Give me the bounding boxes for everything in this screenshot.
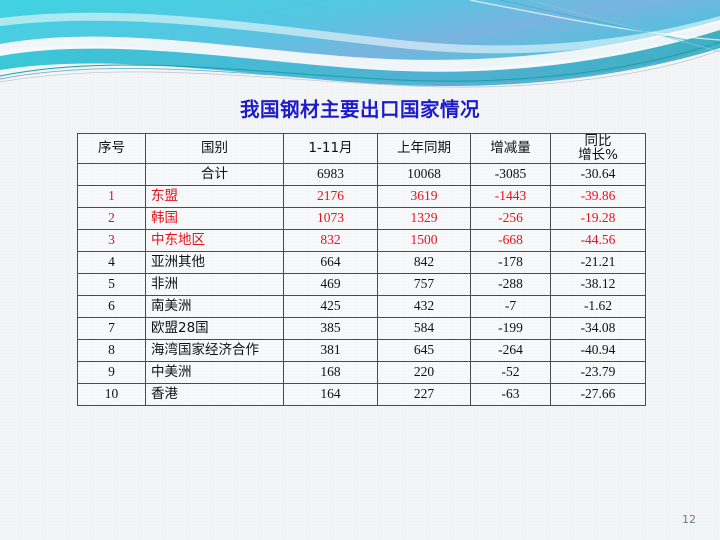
cell-change-amount: -63 <box>471 383 551 405</box>
cell-yoy-percent: -34.08 <box>551 317 646 339</box>
cell-index: 1 <box>78 185 146 207</box>
table-row: 6南美洲425432-7-1.62 <box>78 295 646 317</box>
cell-country: 亚洲其他 <box>146 251 284 273</box>
cell-current: 385 <box>284 317 378 339</box>
cell-change-amount: -264 <box>471 339 551 361</box>
cell-current: 2176 <box>284 185 378 207</box>
cell-index: 3 <box>78 229 146 251</box>
cell-current: 168 <box>284 361 378 383</box>
table-row: 1东盟21763619-1443-39.86 <box>78 185 646 207</box>
header-ribbon-decoration <box>0 0 720 92</box>
cell-change-amount: -3085 <box>471 163 551 185</box>
table-body: 合计698310068-3085-30.641东盟21763619-1443-3… <box>78 163 646 405</box>
cell-country: 中美洲 <box>146 361 284 383</box>
column-header-country: 国别 <box>146 134 284 164</box>
cell-prior-year: 227 <box>378 383 471 405</box>
cell-change-amount: -256 <box>471 207 551 229</box>
cell-index: 10 <box>78 383 146 405</box>
slide-canvas: 我国钢材主要出口国家情况 序号 国别 1-11月 <box>0 0 720 540</box>
column-header-yoy-growth: 同比 增长% <box>551 134 646 164</box>
table-row: 8海湾国家经济合作381645-264-40.94 <box>78 339 646 361</box>
cell-current: 1073 <box>284 207 378 229</box>
cell-country: 韩国 <box>146 207 284 229</box>
table-row: 3中东地区8321500-668-44.56 <box>78 229 646 251</box>
column-header-index: 序号 <box>78 134 146 164</box>
cell-index <box>78 163 146 185</box>
cell-yoy-percent: -23.79 <box>551 361 646 383</box>
cell-current: 425 <box>284 295 378 317</box>
cell-change-amount: -199 <box>471 317 551 339</box>
cell-country: 中东地区 <box>146 229 284 251</box>
cell-index: 8 <box>78 339 146 361</box>
cell-prior-year: 1329 <box>378 207 471 229</box>
table-row: 7欧盟28国385584-199-34.08 <box>78 317 646 339</box>
cell-prior-year: 584 <box>378 317 471 339</box>
cell-country: 东盟 <box>146 185 284 207</box>
cell-current: 664 <box>284 251 378 273</box>
cell-yoy-percent: -30.64 <box>551 163 646 185</box>
cell-index: 9 <box>78 361 146 383</box>
cell-country: 合计 <box>146 163 284 185</box>
cell-index: 4 <box>78 251 146 273</box>
table-row: 合计698310068-3085-30.64 <box>78 163 646 185</box>
cell-country: 海湾国家经济合作 <box>146 339 284 361</box>
cell-country: 非洲 <box>146 273 284 295</box>
cell-country: 香港 <box>146 383 284 405</box>
cell-yoy-percent: -44.56 <box>551 229 646 251</box>
cell-country: 欧盟28国 <box>146 317 284 339</box>
cell-change-amount: -1443 <box>471 185 551 207</box>
table-row: 10香港164227-63-27.66 <box>78 383 646 405</box>
cell-prior-year: 220 <box>378 361 471 383</box>
page-title: 我国钢材主要出口国家情况 <box>0 93 720 122</box>
cell-prior-year: 1500 <box>378 229 471 251</box>
cell-change-amount: -178 <box>471 251 551 273</box>
cell-current: 6983 <box>284 163 378 185</box>
cell-yoy-percent: -1.62 <box>551 295 646 317</box>
cell-prior-year: 645 <box>378 339 471 361</box>
table-header: 序号 国别 1-11月 上年同期 增减量 同比 <box>78 134 646 164</box>
cell-change-amount: -52 <box>471 361 551 383</box>
cell-yoy-percent: -39.86 <box>551 185 646 207</box>
cell-current: 469 <box>284 273 378 295</box>
cell-country: 南美洲 <box>146 295 284 317</box>
column-header-jan-nov: 1-11月 <box>284 134 378 164</box>
table-row: 5非洲469757-288-38.12 <box>78 273 646 295</box>
cell-index: 7 <box>78 317 146 339</box>
table-header-row: 序号 国别 1-11月 上年同期 增减量 同比 <box>78 134 646 164</box>
steel-export-table: 序号 国别 1-11月 上年同期 增减量 同比 <box>77 133 646 406</box>
ribbon-svg <box>0 0 720 92</box>
table-row: 4亚洲其他664842-178-21.21 <box>78 251 646 273</box>
page-number: 12 <box>682 513 696 526</box>
table-row: 9中美洲168220-52-23.79 <box>78 361 646 383</box>
column-header-change-amount: 增减量 <box>471 134 551 164</box>
cell-change-amount: -7 <box>471 295 551 317</box>
cell-index: 2 <box>78 207 146 229</box>
cell-yoy-percent: -38.12 <box>551 273 646 295</box>
column-header-prior-year: 上年同期 <box>378 134 471 164</box>
cell-prior-year: 432 <box>378 295 471 317</box>
cell-current: 832 <box>284 229 378 251</box>
cell-prior-year: 10068 <box>378 163 471 185</box>
cell-change-amount: -288 <box>471 273 551 295</box>
table-row: 2韩国10731329-256-19.28 <box>78 207 646 229</box>
cell-yoy-percent: -40.94 <box>551 339 646 361</box>
cell-prior-year: 842 <box>378 251 471 273</box>
cell-change-amount: -668 <box>471 229 551 251</box>
cell-current: 164 <box>284 383 378 405</box>
cell-index: 5 <box>78 273 146 295</box>
export-table-container: 序号 国别 1-11月 上年同期 增减量 同比 <box>77 133 645 406</box>
cell-index: 6 <box>78 295 146 317</box>
cell-yoy-percent: -27.66 <box>551 383 646 405</box>
cell-prior-year: 757 <box>378 273 471 295</box>
cell-current: 381 <box>284 339 378 361</box>
cell-yoy-percent: -19.28 <box>551 207 646 229</box>
cell-yoy-percent: -21.21 <box>551 251 646 273</box>
cell-prior-year: 3619 <box>378 185 471 207</box>
